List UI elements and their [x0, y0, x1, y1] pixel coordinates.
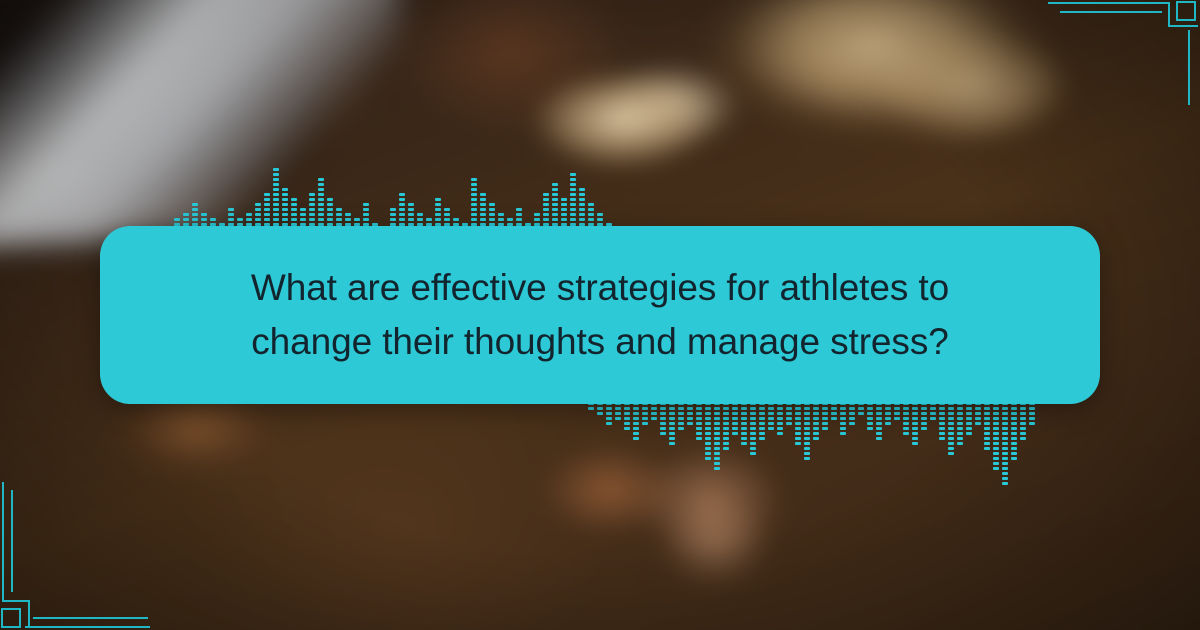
waveform-bottom-dash — [957, 427, 963, 430]
waveform-bottom-dash — [642, 412, 648, 415]
waveform-bottom-dash — [858, 412, 864, 415]
waveform-bottom-bar — [1011, 400, 1017, 460]
waveform-top-dash — [282, 213, 288, 216]
question-card: What are effective strategies for athlet… — [100, 226, 1100, 404]
waveform-bottom-dash — [795, 422, 801, 425]
waveform-bottom-bar — [993, 400, 999, 470]
waveform-bottom-dash — [822, 407, 828, 410]
waveform-bottom-dash — [741, 407, 747, 410]
waveform-bottom-dash — [795, 437, 801, 440]
waveform-bottom-dash — [993, 452, 999, 455]
waveform-bottom-dash — [714, 427, 720, 430]
waveform-bottom-dash — [1002, 467, 1008, 470]
waveform-bottom-dash — [624, 422, 630, 425]
waveform-bottom-dash — [948, 437, 954, 440]
waveform-bottom-dash — [795, 432, 801, 435]
waveform-top-dash — [399, 213, 405, 216]
waveform-top-dash — [318, 193, 324, 196]
waveform-bottom-dash — [678, 417, 684, 420]
waveform-bottom-dash — [993, 432, 999, 435]
waveform-bottom-dash — [750, 427, 756, 430]
waveform-bottom-dash — [786, 422, 792, 425]
waveform-top-dash — [417, 218, 423, 221]
waveform-bottom-dash — [606, 422, 612, 425]
waveform-bottom-dash — [786, 407, 792, 410]
waveform-top-dash — [399, 193, 405, 196]
waveform-bottom-dash — [804, 457, 810, 460]
waveform-bottom-dash — [714, 447, 720, 450]
waveform-bottom-dash — [813, 422, 819, 425]
waveform-bottom-dash — [840, 407, 846, 410]
waveform-bottom-dash — [795, 417, 801, 420]
waveform-bottom-dash — [912, 417, 918, 420]
waveform-top-dash — [390, 213, 396, 216]
waveform-bottom-dash — [966, 417, 972, 420]
waveform-bottom-dash — [804, 442, 810, 445]
waveform-top-dash — [363, 203, 369, 206]
waveform-bottom-dash — [768, 407, 774, 410]
waveform-bottom-dash — [948, 442, 954, 445]
waveform-bottom-dash — [966, 412, 972, 415]
waveform-bottom-dash — [714, 422, 720, 425]
waveform-bottom-dash — [813, 412, 819, 415]
waveform-bottom-dash — [840, 412, 846, 415]
waveform-top-dash — [471, 198, 477, 201]
waveform-top-dash — [570, 198, 576, 201]
waveform-top-dash — [264, 208, 270, 211]
waveform-bottom-dash — [984, 412, 990, 415]
waveform-bottom-dash — [993, 467, 999, 470]
waveform-top-dash — [579, 193, 585, 196]
waveform-top-dash — [588, 218, 594, 221]
waveform-top-dash — [534, 218, 540, 221]
waveform-bottom-dash — [840, 427, 846, 430]
waveform-bottom-dash — [849, 412, 855, 415]
waveform-bottom-dash — [723, 417, 729, 420]
waveform-bottom-dash — [921, 422, 927, 425]
waveform-bottom-dash — [831, 417, 837, 420]
waveform-bottom-dash — [813, 417, 819, 420]
waveform-bottom-dash — [696, 412, 702, 415]
waveform-bottom-dash — [1002, 457, 1008, 460]
waveform-bottom-dash — [642, 422, 648, 425]
waveform-top-dash — [480, 218, 486, 221]
waveform-bottom-dash — [804, 417, 810, 420]
waveform-bottom-bar — [876, 400, 882, 440]
waveform-bottom-dash — [894, 417, 900, 420]
waveform-bottom-dash — [813, 432, 819, 435]
waveform-top-dash — [561, 208, 567, 211]
waveform-bottom-dash — [1029, 412, 1035, 415]
waveform-bottom-dash — [687, 417, 693, 420]
audio-waveform-bottom — [588, 400, 1038, 520]
waveform-bottom-dash — [759, 407, 765, 410]
waveform-bottom-dash — [921, 417, 927, 420]
waveform-bottom-dash — [669, 417, 675, 420]
waveform-top-dash — [282, 218, 288, 221]
waveform-top-dash — [408, 208, 414, 211]
waveform-bottom-dash — [804, 437, 810, 440]
waveform-bottom-dash — [876, 432, 882, 435]
waveform-bottom-dash — [948, 412, 954, 415]
waveform-bottom-dash — [606, 417, 612, 420]
waveform-bottom-dash — [1011, 447, 1017, 450]
waveform-bottom-dash — [1020, 417, 1026, 420]
waveform-top-dash — [471, 188, 477, 191]
waveform-bottom-dash — [849, 407, 855, 410]
waveform-top-dash — [399, 198, 405, 201]
waveform-bottom-dash — [1011, 427, 1017, 430]
waveform-bottom-dash — [804, 427, 810, 430]
waveform-bottom-dash — [993, 437, 999, 440]
waveform-bottom-dash — [705, 442, 711, 445]
waveform-top-dash — [579, 203, 585, 206]
waveform-bottom-dash — [804, 432, 810, 435]
waveform-bottom-dash — [732, 422, 738, 425]
waveform-bottom-dash — [606, 407, 612, 410]
waveform-top-dash — [453, 218, 459, 221]
waveform-top-dash — [327, 198, 333, 201]
waveform-bottom-dash — [732, 407, 738, 410]
waveform-bottom-dash — [759, 437, 765, 440]
waveform-bottom-dash — [975, 417, 981, 420]
waveform-bottom-dash — [723, 422, 729, 425]
waveform-top-dash — [480, 193, 486, 196]
waveform-top-dash — [273, 178, 279, 181]
waveform-top-dash — [543, 193, 549, 196]
waveform-bottom-dash — [687, 422, 693, 425]
waveform-bottom-bar — [795, 400, 801, 445]
waveform-bottom-dash — [795, 407, 801, 410]
waveform-top-dash — [507, 218, 513, 221]
waveform-bottom-dash — [1011, 442, 1017, 445]
waveform-bottom-dash — [1002, 422, 1008, 425]
waveform-top-dash — [174, 218, 180, 221]
waveform-bottom-dash — [822, 412, 828, 415]
waveform-bottom-dash — [948, 432, 954, 435]
waveform-bottom-dash — [984, 417, 990, 420]
waveform-bottom-dash — [660, 432, 666, 435]
waveform-top-dash — [183, 213, 189, 216]
waveform-bottom-dash — [750, 452, 756, 455]
waveform-bottom-dash — [705, 407, 711, 410]
waveform-bottom-dash — [1011, 422, 1017, 425]
waveform-bottom-dash — [939, 432, 945, 435]
waveform-top-dash — [435, 203, 441, 206]
waveform-top-dash — [327, 218, 333, 221]
waveform-bottom-dash — [678, 412, 684, 415]
waveform-top-dash — [399, 218, 405, 221]
waveform-bottom-dash — [723, 437, 729, 440]
waveform-bottom-dash — [966, 432, 972, 435]
waveform-bottom-dash — [1020, 432, 1026, 435]
waveform-bottom-bar — [759, 400, 765, 440]
waveform-bottom-dash — [750, 442, 756, 445]
waveform-top-dash — [561, 213, 567, 216]
waveform-bottom-dash — [912, 437, 918, 440]
waveform-bottom-dash — [741, 422, 747, 425]
waveform-top-dash — [318, 183, 324, 186]
waveform-top-dash — [300, 208, 306, 211]
waveform-top-dash — [273, 198, 279, 201]
waveform-top-dash — [543, 208, 549, 211]
waveform-top-dash — [552, 213, 558, 216]
waveform-bottom-dash — [660, 427, 666, 430]
waveform-bottom-dash — [867, 412, 873, 415]
waveform-top-dash — [318, 188, 324, 191]
waveform-top-dash — [201, 213, 207, 216]
waveform-bottom-bar — [660, 400, 666, 435]
waveform-bottom-dash — [984, 432, 990, 435]
corner-line-v-outer — [2, 482, 4, 602]
waveform-bottom-dash — [741, 442, 747, 445]
waveform-top-dash — [489, 218, 495, 221]
waveform-top-dash — [282, 208, 288, 211]
waveform-bottom-dash — [894, 412, 900, 415]
waveform-top-dash — [498, 218, 504, 221]
waveform-bottom-dash — [624, 427, 630, 430]
waveform-top-dash — [336, 218, 342, 221]
waveform-top-dash — [588, 213, 594, 216]
waveform-top-dash — [480, 198, 486, 201]
waveform-top-dash — [282, 193, 288, 196]
waveform-bottom-dash — [804, 447, 810, 450]
waveform-top-dash — [516, 208, 522, 211]
waveform-bottom-dash — [912, 427, 918, 430]
waveform-bottom-dash — [750, 422, 756, 425]
waveform-bottom-bar — [768, 400, 774, 430]
waveform-bottom-dash — [948, 422, 954, 425]
waveform-bottom-dash — [957, 442, 963, 445]
waveform-bottom-dash — [714, 442, 720, 445]
waveform-bottom-dash — [957, 407, 963, 410]
waveform-bottom-dash — [1029, 417, 1035, 420]
waveform-top-dash — [543, 213, 549, 216]
waveform-top-dash — [570, 188, 576, 191]
waveform-bottom-dash — [885, 412, 891, 415]
waveform-bottom-dash — [921, 412, 927, 415]
waveform-bottom-dash — [930, 417, 936, 420]
waveform-top-dash — [228, 213, 234, 216]
waveform-bottom-dash — [687, 412, 693, 415]
waveform-top-dash — [399, 208, 405, 211]
waveform-top-dash — [318, 178, 324, 181]
waveform-top-dash — [255, 208, 261, 211]
waveform-bottom-dash — [912, 442, 918, 445]
waveform-bottom-dash — [903, 422, 909, 425]
waveform-bottom-dash — [750, 437, 756, 440]
waveform-bottom-bar — [804, 400, 810, 460]
waveform-bottom-dash — [813, 407, 819, 410]
waveform-top-dash — [273, 183, 279, 186]
waveform-bottom-bar — [705, 400, 711, 460]
waveform-top-dash — [327, 203, 333, 206]
waveform-top-dash — [579, 218, 585, 221]
waveform-bottom-dash — [768, 412, 774, 415]
waveform-bottom-bar — [633, 400, 639, 440]
waveform-bottom-dash — [867, 427, 873, 430]
waveform-top-dash — [255, 203, 261, 206]
waveform-bottom-bar — [822, 400, 828, 430]
waveform-bottom-dash — [741, 427, 747, 430]
waveform-bottom-dash — [1002, 442, 1008, 445]
waveform-bottom-dash — [669, 432, 675, 435]
waveform-bottom-dash — [993, 417, 999, 420]
waveform-top-dash — [408, 213, 414, 216]
waveform-bottom-dash — [786, 417, 792, 420]
waveform-bottom-dash — [1002, 437, 1008, 440]
waveform-top-dash — [435, 213, 441, 216]
waveform-bottom-dash — [813, 437, 819, 440]
waveform-top-dash — [444, 213, 450, 216]
waveform-top-dash — [489, 213, 495, 216]
waveform-top-dash — [291, 198, 297, 201]
waveform-bottom-dash — [1011, 412, 1017, 415]
waveform-bottom-dash — [903, 417, 909, 420]
waveform-top-dash — [318, 203, 324, 206]
waveform-bottom-dash — [633, 427, 639, 430]
waveform-bottom-dash — [912, 432, 918, 435]
waveform-bottom-dash — [687, 407, 693, 410]
waveform-bottom-bar — [624, 400, 630, 430]
waveform-bottom-dash — [696, 437, 702, 440]
waveform-top-dash — [309, 213, 315, 216]
waveform-bottom-bar — [678, 400, 684, 430]
waveform-bottom-dash — [984, 447, 990, 450]
waveform-top-dash — [516, 218, 522, 221]
waveform-top-dash — [309, 193, 315, 196]
waveform-top-dash — [588, 208, 594, 211]
waveform-top-dash — [273, 188, 279, 191]
waveform-bottom-dash — [705, 437, 711, 440]
waveform-bottom-dash — [795, 427, 801, 430]
waveform-bottom-bar — [984, 400, 990, 450]
waveform-bottom-dash — [651, 412, 657, 415]
waveform-bottom-dash — [903, 407, 909, 410]
waveform-bottom-dash — [633, 417, 639, 420]
waveform-bottom-dash — [759, 412, 765, 415]
waveform-bottom-dash — [759, 427, 765, 430]
waveform-top-dash — [192, 218, 198, 221]
corner-line-v-inner — [11, 490, 13, 592]
waveform-bottom-dash — [822, 417, 828, 420]
waveform-bottom-dash — [723, 427, 729, 430]
waveform-bottom-dash — [948, 452, 954, 455]
waveform-top-dash — [282, 203, 288, 206]
waveform-top-dash — [579, 188, 585, 191]
waveform-bottom-dash — [876, 422, 882, 425]
waveform-bottom-dash — [993, 407, 999, 410]
waveform-bottom-dash — [912, 422, 918, 425]
waveform-bottom-bar — [957, 400, 963, 445]
waveform-top-dash — [426, 218, 432, 221]
waveform-top-dash — [480, 208, 486, 211]
waveform-bottom-dash — [948, 407, 954, 410]
waveform-bottom-dash — [723, 442, 729, 445]
waveform-top-dash — [210, 218, 216, 221]
question-text: What are effective strategies for athlet… — [191, 261, 1009, 368]
waveform-top-dash — [192, 203, 198, 206]
waveform-bottom-dash — [993, 427, 999, 430]
waveform-bottom-dash — [759, 417, 765, 420]
waveform-bottom-dash — [1011, 457, 1017, 460]
waveform-bottom-dash — [714, 407, 720, 410]
corner-line-h-inner — [33, 617, 148, 619]
waveform-top-dash — [291, 208, 297, 211]
waveform-top-dash — [408, 203, 414, 206]
waveform-bottom-dash — [696, 427, 702, 430]
waveform-bottom-dash — [714, 437, 720, 440]
waveform-bottom-dash — [804, 422, 810, 425]
waveform-bottom-dash — [633, 437, 639, 440]
waveform-top-dash — [273, 173, 279, 176]
waveform-top-dash — [552, 198, 558, 201]
waveform-bottom-bar — [714, 400, 720, 470]
waveform-bottom-dash — [1020, 437, 1026, 440]
waveform-top-dash — [471, 193, 477, 196]
waveform-top-dash — [273, 218, 279, 221]
waveform-top-dash — [318, 218, 324, 221]
waveform-top-dash — [309, 208, 315, 211]
waveform-bottom-dash — [669, 407, 675, 410]
waveform-bottom-dash — [993, 422, 999, 425]
waveform-bottom-dash — [993, 462, 999, 465]
waveform-bottom-dash — [696, 417, 702, 420]
waveform-bottom-dash — [993, 442, 999, 445]
waveform-bottom-dash — [768, 417, 774, 420]
waveform-top-dash — [300, 218, 306, 221]
waveform-top-dash — [264, 218, 270, 221]
waveform-bottom-dash — [660, 407, 666, 410]
waveform-bottom-dash — [768, 427, 774, 430]
waveform-bottom-dash — [642, 417, 648, 420]
waveform-top-dash — [246, 218, 252, 221]
waveform-top-dash — [390, 218, 396, 221]
waveform-bottom-dash — [606, 412, 612, 415]
waveform-top-dash — [570, 193, 576, 196]
corner-square — [1, 608, 21, 628]
waveform-bottom-dash — [1011, 417, 1017, 420]
waveform-bottom-dash — [948, 427, 954, 430]
waveform-bottom-dash — [1002, 432, 1008, 435]
waveform-bottom-dash — [615, 407, 621, 410]
waveform-bottom-dash — [633, 422, 639, 425]
waveform-top-dash — [552, 183, 558, 186]
waveform-top-dash — [273, 208, 279, 211]
waveform-top-dash — [471, 178, 477, 181]
waveform-bottom-dash — [642, 407, 648, 410]
waveform-bottom-dash — [921, 407, 927, 410]
waveform-top-dash — [570, 203, 576, 206]
waveform-bottom-dash — [723, 432, 729, 435]
waveform-bottom-dash — [894, 407, 900, 410]
waveform-bottom-dash — [714, 462, 720, 465]
waveform-bottom-bar — [867, 400, 873, 430]
waveform-bottom-dash — [804, 452, 810, 455]
waveform-bottom-dash — [822, 427, 828, 430]
waveform-bottom-dash — [1011, 432, 1017, 435]
waveform-bottom-dash — [957, 422, 963, 425]
waveform-bottom-dash — [984, 437, 990, 440]
waveform-bottom-dash — [750, 447, 756, 450]
waveform-top-dash — [561, 203, 567, 206]
waveform-top-dash — [345, 213, 351, 216]
waveform-bottom-dash — [741, 417, 747, 420]
corner-line-h-outer — [1048, 2, 1170, 4]
waveform-bottom-dash — [975, 422, 981, 425]
waveform-top-dash — [552, 193, 558, 196]
waveform-bottom-dash — [750, 407, 756, 410]
